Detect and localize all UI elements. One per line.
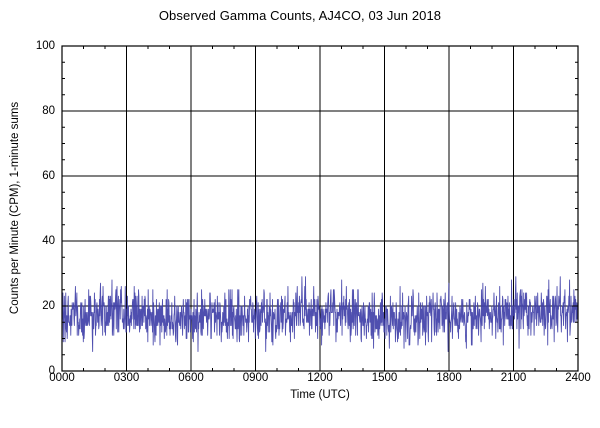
y-tick-label: 100: [0, 40, 55, 52]
x-tick-label: 0300: [114, 372, 140, 384]
y-tick-label: 60: [0, 170, 55, 182]
y-tick-label: 20: [0, 300, 55, 312]
x-tick-label: 0000: [49, 372, 75, 384]
x-tick-label: 1500: [372, 372, 398, 384]
y-tick-label: 80: [0, 105, 55, 117]
x-tick-label: 2400: [565, 372, 591, 384]
y-tick-label: 0: [0, 365, 55, 377]
plot-area: [0, 0, 600, 428]
x-axis-label: Time (UTC): [62, 389, 578, 401]
x-tick-label: 2100: [501, 372, 527, 384]
gamma-counts-figure: Observed Gamma Counts, AJ4CO, 03 Jun 201…: [0, 0, 600, 428]
x-tick-label: 0900: [243, 372, 269, 384]
x-tick-label: 0600: [178, 372, 204, 384]
y-tick-label: 40: [0, 235, 55, 247]
x-tick-label: 1800: [436, 372, 462, 384]
x-tick-label: 1200: [307, 372, 333, 384]
